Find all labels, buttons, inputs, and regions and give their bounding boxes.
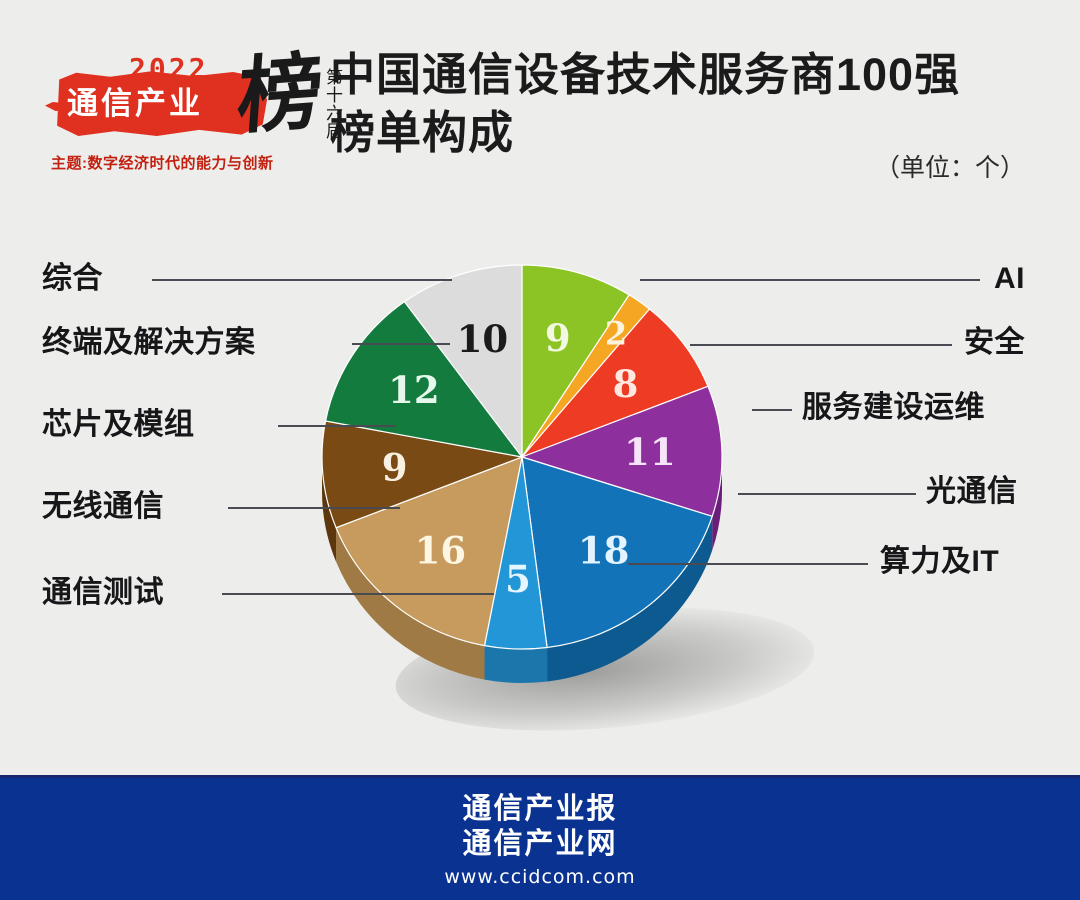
pie-value-光通信: 11 [624, 430, 676, 474]
leader-line-ai [640, 279, 980, 281]
pie-value-AI: 9 [545, 316, 571, 360]
pie-value-综合: 10 [457, 317, 509, 361]
leader-line-wuxian [228, 507, 400, 509]
slice-label-ceshi: 通信测试 [42, 576, 164, 610]
slice-label-fuwu: 服务建设运维 [802, 391, 985, 425]
unit-note: （单位：个） [875, 148, 1025, 184]
logo-calligraphy-char: 榜 [235, 49, 326, 139]
footer-publication-name: 通信产业报 [0, 792, 1080, 827]
slice-label-suanli: 算力及IT [880, 545, 999, 579]
header: 2022 通信产业 榜 第十六届 主题:数字经济时代的能力与创新 中国通信设备技… [0, 0, 1080, 215]
logo-brand-text: 通信产业 [67, 82, 257, 126]
pie-value-芯片及模组: 9 [382, 446, 408, 490]
pie-svg: 928111851691210 [300, 235, 740, 695]
pie-graphic: 928111851691210 [300, 235, 740, 695]
slice-label-ai: AI [994, 262, 1025, 296]
slice-label-zhongduan: 终端及解决方案 [42, 326, 256, 360]
award-logo: 2022 通信产业 榜 第十六届 主题:数字经济时代的能力与创新 [45, 46, 310, 176]
leader-line-guangtongxin [738, 493, 916, 495]
logo-year: 2022 [129, 52, 208, 85]
footer-url: www.ccidcom.com [0, 866, 1080, 888]
slice-label-xinpian: 芯片及模组 [42, 408, 195, 442]
pie-value-服务建设运维: 8 [613, 362, 639, 406]
page-title: 中国通信设备技术服务商100强榜单构成 [330, 46, 970, 162]
leader-line-zonghe [152, 279, 452, 281]
leader-line-xinpian [278, 425, 396, 427]
leader-line-suanli [628, 563, 868, 565]
pie-value-通信测试: 5 [505, 557, 531, 601]
leader-line-ceshi [222, 593, 494, 595]
logo-subtitle: 主题:数字经济时代的能力与创新 [51, 152, 274, 173]
pie-value-安全: 2 [605, 315, 627, 353]
footer-website-name: 通信产业网 [0, 827, 1080, 862]
pie-value-终端及解决方案: 12 [388, 368, 440, 412]
leader-line-zhongduan [352, 343, 450, 345]
slice-label-anquan: 安全 [964, 326, 1025, 360]
pie-value-无线通信: 16 [415, 529, 467, 573]
leader-line-fuwu [752, 409, 792, 411]
slice-label-wuxian: 无线通信 [42, 490, 164, 524]
pie-slice-side-通信测试 [485, 646, 548, 683]
leader-line-anquan [690, 344, 952, 346]
slice-label-zonghe: 综合 [42, 262, 103, 296]
pie-value-算力及IT: 18 [578, 529, 630, 573]
slice-label-guangtongxin: 光通信 [926, 475, 1018, 509]
footer-banner: 通信产业报 通信产业网 www.ccidcom.com [0, 775, 1080, 900]
pie-chart: 928111851691210 综合 终端及解决方案 芯片及模组 无线通信 通信… [0, 215, 1080, 775]
